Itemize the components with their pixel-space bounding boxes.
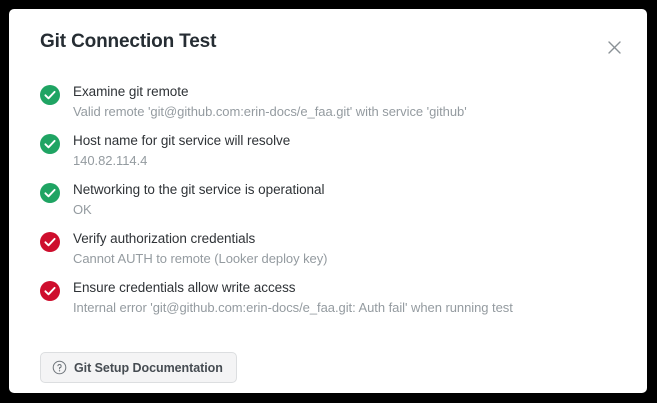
check-circle-icon [40,232,60,252]
check-row: Verify authorization credentials Cannot … [40,230,627,279]
check-row: Networking to the git service is operati… [40,181,627,230]
check-circle-icon [40,183,60,203]
check-label: Verify authorization credentials [73,230,627,247]
check-list: Examine git remote Valid remote 'git@git… [40,83,627,328]
check-row: Ensure credentials allow write access In… [40,279,627,328]
check-label: Examine git remote [73,83,627,100]
check-detail: Valid remote 'git@github.com:erin-docs/e… [73,104,627,120]
check-detail: Cannot AUTH to remote (Looker deploy key… [73,251,627,267]
check-label: Ensure credentials allow write access [73,279,627,296]
git-setup-documentation-label: Git Setup Documentation [74,361,223,375]
help-circle-icon [52,360,67,375]
check-row: Host name for git service will resolve 1… [40,132,627,181]
check-circle-icon [40,85,60,105]
git-connection-test-dialog: Git Connection Test Examine git remote [9,9,647,393]
screen-frame: Git Connection Test Examine git remote [0,0,657,403]
close-button[interactable] [601,34,627,60]
git-setup-documentation-button[interactable]: Git Setup Documentation [40,352,237,383]
check-label: Host name for git service will resolve [73,132,627,149]
dialog-header: Git Connection Test [9,9,647,75]
check-circle-icon [40,281,60,301]
check-row: Examine git remote Valid remote 'git@git… [40,83,627,132]
check-detail: OK [73,202,627,218]
close-icon [607,40,622,55]
page-title: Git Connection Test [40,31,216,53]
check-label: Networking to the git service is operati… [73,181,627,198]
check-circle-icon [40,134,60,154]
check-detail: Internal error 'git@github.com:erin-docs… [73,300,627,316]
check-detail: 140.82.114.4 [73,153,627,169]
